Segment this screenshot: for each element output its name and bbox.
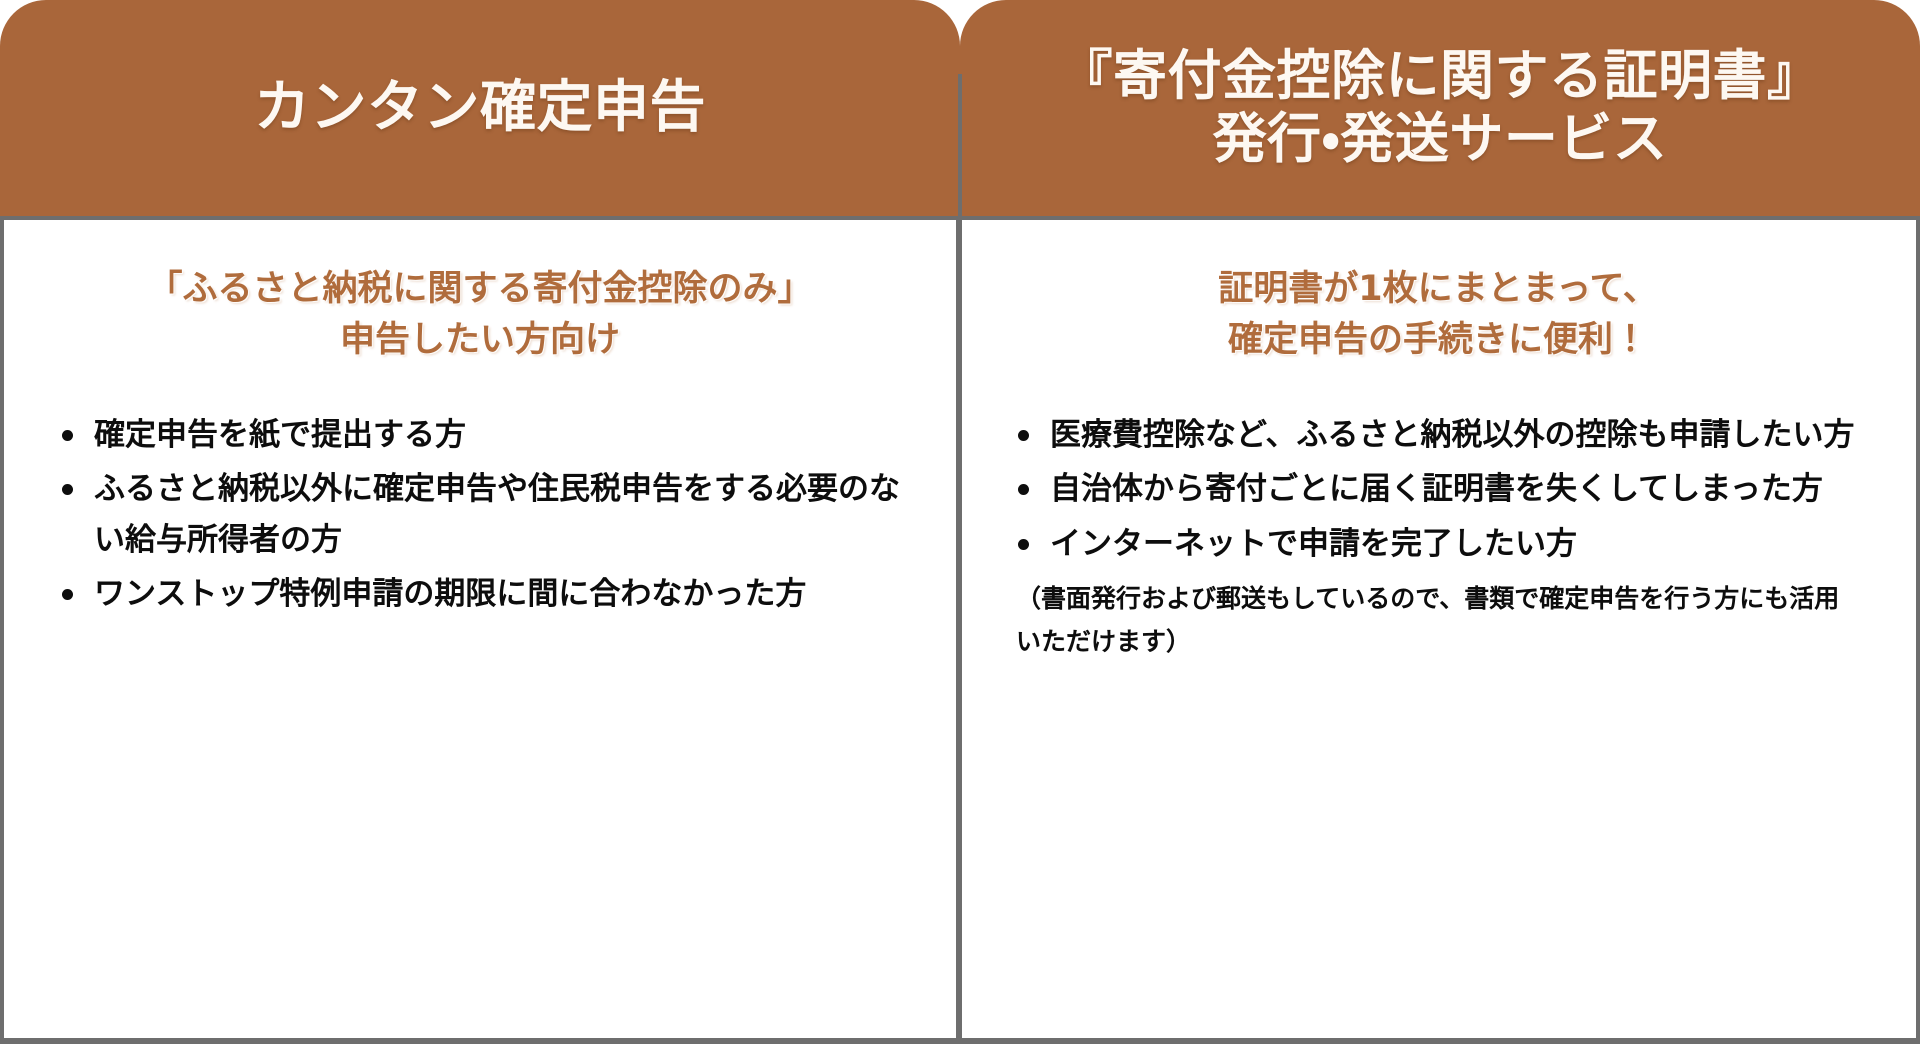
column-note-right: （書面発行および郵送もしているので、書類で確定申告を行う方にも活用いただけます） — [1012, 577, 1864, 663]
column-body-kantan-kakutei-shinkoku: 「ふるさと納税に関する寄付金控除のみ」 申告したい方向け 確定申告を紙で提出する… — [4, 220, 960, 1038]
column-subtitle-right: 証明書が1枚にまとまって、 確定申告の手続きに便利！ — [1012, 264, 1864, 366]
column-header-kifukin-koujo-shoumeisho: 『寄付金控除に関する証明書』 発行・発送サービス — [960, 0, 1920, 216]
bullet-list-right: 医療費控除など、ふるさと納税以外の控除も申請したい方 自治体から寄付ごとに届く証… — [1012, 410, 1864, 569]
bullet-list-left: 確定申告を紙で提出する方 ふるさと納税以外に確定申告や住民税申告をする必要のない… — [56, 410, 904, 619]
list-item: ふるさと納税以外に確定申告や住民税申告をする必要のない給与所得者の方 — [56, 464, 904, 564]
column-subtitle-left: 「ふるさと納税に関する寄付金控除のみ」 申告したい方向け — [56, 264, 904, 366]
column-divider — [958, 74, 962, 1044]
list-item: インターネットで申請を完了したい方 — [1012, 519, 1864, 569]
column-body-kifukin-koujo-shoumeisho: 証明書が1枚にまとまって、 確定申告の手続きに便利！ 医療費控除など、ふるさと納… — [960, 220, 1916, 1038]
list-item: 医療費控除など、ふるさと納税以外の控除も申請したい方 — [1012, 410, 1864, 460]
column-header-title-right: 『寄付金控除に関する証明書』 発行・発送サービス — [1035, 45, 1846, 170]
list-item: ワンストップ特例申請の期限に間に合わなかった方 — [56, 569, 904, 619]
comparison-table: カンタン確定申告 『寄付金控除に関する証明書』 発行・発送サービス 「ふるさと納… — [0, 0, 1920, 1044]
column-header-title-left: カンタン確定申告 — [230, 76, 730, 141]
list-item: 確定申告を紙で提出する方 — [56, 410, 904, 460]
column-header-kantan-kakutei-shinkoku: カンタン確定申告 — [0, 0, 960, 216]
list-item: 自治体から寄付ごとに届く証明書を失くしてしまった方 — [1012, 464, 1864, 514]
